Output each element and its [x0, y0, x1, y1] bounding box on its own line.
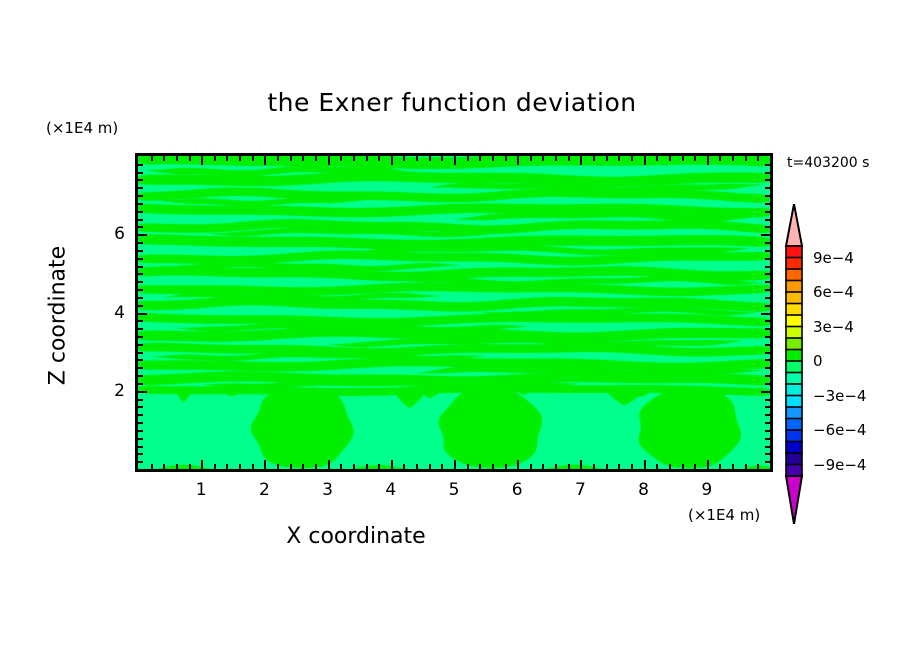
y-axis-tick [138, 164, 143, 166]
y-axis-tick [138, 242, 143, 244]
x-axis-tick [618, 464, 620, 469]
x-axis-tick [328, 156, 330, 165]
x-axis-tick-label: 2 [244, 480, 284, 500]
y-axis-tick [765, 438, 770, 440]
x-axis-tick-label: 7 [560, 480, 600, 500]
x-axis-tick [467, 464, 469, 469]
colorbar-band [786, 246, 802, 258]
y-axis-tick [138, 414, 143, 416]
y-axis-tick [138, 289, 143, 291]
x-axis-tick [454, 156, 456, 165]
x-axis-tick [530, 156, 532, 161]
y-axis-tick [765, 172, 770, 174]
x-axis-tick [694, 156, 696, 161]
y-axis-tick-label: 6 [95, 224, 125, 244]
y-axis-tick [765, 226, 770, 228]
y-axis-tick [138, 336, 143, 338]
colorbar-band [786, 258, 802, 270]
y-axis-tick [138, 406, 143, 408]
colorbar [781, 204, 807, 524]
x-axis-tick [151, 464, 153, 469]
x-axis-tick [682, 464, 684, 469]
x-axis-tick [189, 464, 191, 469]
y-axis-tick [138, 352, 143, 354]
colorbar-band [786, 350, 802, 362]
y-axis-tick [765, 422, 770, 424]
x-axis-tick [644, 156, 646, 165]
x-axis-tick [176, 156, 178, 161]
y-axis-tick [765, 195, 770, 197]
y-axis-tick-label: 2 [95, 381, 125, 401]
x-axis-tick [530, 464, 532, 469]
x-axis-tick [252, 156, 254, 161]
colorbar-band [786, 292, 802, 304]
x-axis-tick [277, 464, 279, 469]
y-axis-tick [761, 313, 770, 315]
y-axis-tick [138, 234, 147, 236]
y-axis-tick [138, 266, 143, 268]
x-axis-tick [378, 156, 380, 161]
colorbar-band [786, 442, 802, 454]
x-axis-tick-label: 1 [181, 480, 221, 500]
y-axis-tick [765, 328, 770, 330]
x-axis-tick-label: 4 [371, 480, 411, 500]
y-axis-tick [765, 375, 770, 377]
y-axis-tick [138, 399, 143, 401]
y-axis-tick [765, 242, 770, 244]
y-axis-tick [765, 352, 770, 354]
x-axis-tick [264, 460, 266, 469]
x-axis-tick [732, 156, 734, 161]
x-axis-tick [264, 156, 266, 165]
x-axis-tick [656, 464, 658, 469]
y-axis-tick [765, 399, 770, 401]
colorbar-band [786, 315, 802, 327]
x-axis-tick [315, 156, 317, 161]
x-axis-tick [353, 464, 355, 469]
x-axis-tick [454, 460, 456, 469]
x-axis-tick [302, 156, 304, 161]
y-axis-tick [138, 179, 143, 181]
x-axis-tick [239, 464, 241, 469]
x-axis-tick [606, 156, 608, 161]
y-axis-tick [138, 359, 143, 361]
y-axis-tick [761, 391, 770, 393]
colorbar-band [786, 338, 802, 350]
x-axis-tick [492, 156, 494, 161]
y-axis-tick [765, 289, 770, 291]
x-axis-tick [328, 460, 330, 469]
x-axis-tick [416, 156, 418, 161]
colorbar-tick-label: −3e−4 [813, 387, 866, 405]
colorbar-tick-label: −6e−4 [813, 421, 866, 439]
y-axis-tick [765, 187, 770, 189]
y-axis-tick [765, 344, 770, 346]
x-axis-tick [340, 156, 342, 161]
x-axis-tick [277, 156, 279, 161]
x-axis-tick [226, 156, 228, 161]
y-axis-tick [765, 336, 770, 338]
x-axis-tick [441, 464, 443, 469]
x-axis-tick [201, 460, 203, 469]
y-axis-tick [138, 328, 143, 330]
colorbar-band [786, 453, 802, 465]
x-axis-tick [719, 156, 721, 161]
y-axis-tick [138, 226, 143, 228]
contour-field-canvas [138, 156, 770, 469]
y-axis-tick [765, 258, 770, 260]
y-axis-tick [138, 250, 143, 252]
x-axis-tick [593, 464, 595, 469]
x-axis-tick [214, 464, 216, 469]
colorbar-band [786, 384, 802, 396]
y-axis-tick [138, 313, 147, 315]
y-axis-tick [138, 305, 143, 307]
y-axis-tick [138, 172, 143, 174]
x-axis-tick [151, 156, 153, 161]
x-axis-tick [403, 464, 405, 469]
x-axis-tick [290, 156, 292, 161]
colorbar-band [786, 396, 802, 408]
y-axis-tick [765, 367, 770, 369]
x-axis-tick-label: 9 [687, 480, 727, 500]
x-axis-tick [505, 156, 507, 161]
y-axis-tick [765, 414, 770, 416]
y-axis-tick [138, 461, 143, 463]
y-axis-tick [138, 344, 143, 346]
x-axis-tick [580, 156, 582, 165]
x-axis-tick [694, 464, 696, 469]
y-axis-tick [138, 446, 143, 448]
y-axis-tick [138, 211, 143, 213]
y-axis-tick [138, 258, 143, 260]
colorbar-band [786, 361, 802, 373]
x-axis-tick [644, 460, 646, 469]
x-axis-tick [366, 156, 368, 161]
x-axis-tick [555, 156, 557, 161]
x-axis-tick [366, 464, 368, 469]
colorbar-band [786, 327, 802, 339]
x-axis-tick [568, 464, 570, 469]
colorbar-band [786, 281, 802, 293]
x-axis-tick [353, 156, 355, 161]
x-axis-tick [252, 464, 254, 469]
x-axis-tick [517, 156, 519, 165]
colorbar-tick-label: −9e−4 [813, 456, 866, 474]
y-axis-tick [765, 320, 770, 322]
x-axis-tick [555, 464, 557, 469]
x-axis-tick [302, 464, 304, 469]
y-axis-tick [138, 430, 143, 432]
colorbar-swatches [781, 204, 807, 524]
y-axis-title: Z coordinate [46, 196, 71, 436]
y-axis-tick [765, 164, 770, 166]
x-axis-tick [631, 464, 633, 469]
x-axis-tick [732, 464, 734, 469]
x-axis-tick [745, 464, 747, 469]
y-axis-tick [138, 273, 143, 275]
y-axis-tick [765, 453, 770, 455]
x-axis-tick [656, 156, 658, 161]
y-axis-tick [765, 461, 770, 463]
figure-root: the Exner function deviation (×1E4 m) (×… [0, 0, 904, 654]
x-axis-tick [707, 156, 709, 165]
x-axis-tick [340, 464, 342, 469]
x-axis-tick [719, 464, 721, 469]
x-axis-tick [479, 156, 481, 161]
x-axis-tick [239, 156, 241, 161]
x-axis-tick [391, 156, 393, 165]
colorbar-band [786, 269, 802, 281]
x-axis-tick [682, 156, 684, 161]
x-axis-tick [669, 464, 671, 469]
y-axis-tick [765, 430, 770, 432]
x-axis-tick [467, 156, 469, 161]
colorbar-band [786, 304, 802, 316]
x-axis-tick [505, 464, 507, 469]
colorbar-bottom-arrow [786, 476, 802, 524]
x-axis-tick [542, 464, 544, 469]
y-axis-tick-label: 4 [95, 303, 125, 323]
y-axis-tick [138, 453, 143, 455]
y-axis-tick [765, 273, 770, 275]
x-axis-tick [606, 464, 608, 469]
y-axis-tick [765, 203, 770, 205]
y-axis-unit-label: (×1E4 m) [46, 119, 118, 137]
y-axis-tick [765, 297, 770, 299]
y-axis-tick [138, 219, 143, 221]
y-axis-tick [765, 266, 770, 268]
x-axis-tick [631, 156, 633, 161]
y-axis-tick [765, 281, 770, 283]
y-axis-tick [138, 375, 143, 377]
x-axis-tick [315, 464, 317, 469]
y-axis-tick [765, 305, 770, 307]
x-axis-tick [214, 156, 216, 161]
y-axis-tick [138, 367, 143, 369]
page-title: the Exner function deviation [0, 88, 904, 117]
y-axis-tick [765, 406, 770, 408]
y-axis-tick [138, 281, 143, 283]
x-axis-tick [593, 156, 595, 161]
colorbar-band [786, 430, 802, 442]
x-axis-tick [492, 464, 494, 469]
y-axis-tick [765, 359, 770, 361]
x-axis-tick [517, 460, 519, 469]
colorbar-top-arrow [786, 204, 802, 246]
y-axis-tick [765, 383, 770, 385]
x-axis-tick [669, 156, 671, 161]
colorbar-band [786, 419, 802, 431]
x-axis-tick [290, 464, 292, 469]
x-axis-title: X coordinate [0, 524, 712, 549]
y-axis-tick [138, 383, 143, 385]
colorbar-band [786, 407, 802, 419]
x-axis-tick [163, 464, 165, 469]
y-axis-tick [138, 320, 143, 322]
x-axis-tick [757, 156, 759, 161]
colorbar-tick-label: 9e−4 [813, 249, 854, 267]
colorbar-band [786, 373, 802, 385]
x-axis-tick [441, 156, 443, 161]
colorbar-tick-label: 3e−4 [813, 318, 854, 336]
x-axis-tick [429, 156, 431, 161]
x-axis-tick [226, 464, 228, 469]
y-axis-tick [138, 438, 143, 440]
x-axis-tick [189, 156, 191, 161]
y-axis-tick [765, 250, 770, 252]
x-axis-tick-label: 6 [497, 480, 537, 500]
y-axis-tick [138, 297, 143, 299]
x-axis-tick [757, 464, 759, 469]
y-axis-tick [138, 187, 143, 189]
x-axis-tick-label: 5 [434, 480, 474, 500]
x-axis-tick [163, 156, 165, 161]
y-axis-tick [138, 391, 147, 393]
x-axis-tick [618, 156, 620, 161]
y-axis-tick [138, 195, 143, 197]
x-axis-tick [429, 464, 431, 469]
x-axis-tick [378, 464, 380, 469]
x-axis-tick [542, 156, 544, 161]
y-axis-tick [138, 203, 143, 205]
colorbar-tick-label: 6e−4 [813, 283, 854, 301]
x-axis-tick [201, 156, 203, 165]
y-axis-tick [765, 219, 770, 221]
y-axis-tick [765, 211, 770, 213]
x-axis-tick-label: 8 [624, 480, 664, 500]
x-axis-tick [707, 460, 709, 469]
y-axis-tick [765, 179, 770, 181]
y-axis-tick [765, 446, 770, 448]
y-axis-tick [138, 422, 143, 424]
x-axis-tick [391, 460, 393, 469]
x-axis-tick [580, 460, 582, 469]
x-axis-tick [568, 156, 570, 161]
colorbar-tick-label: 0 [813, 352, 823, 370]
timestamp-annotation: t=403200 s [787, 155, 869, 171]
y-axis-tick [761, 234, 770, 236]
x-axis-tick [479, 464, 481, 469]
x-axis-tick [416, 464, 418, 469]
x-axis-tick-label: 3 [308, 480, 348, 500]
contour-plot-area [135, 153, 773, 472]
x-axis-tick [176, 464, 178, 469]
x-axis-tick [403, 156, 405, 161]
colorbar-band [786, 465, 802, 477]
x-axis-unit-label: (×1E4 m) [688, 506, 760, 524]
x-axis-tick [745, 156, 747, 161]
